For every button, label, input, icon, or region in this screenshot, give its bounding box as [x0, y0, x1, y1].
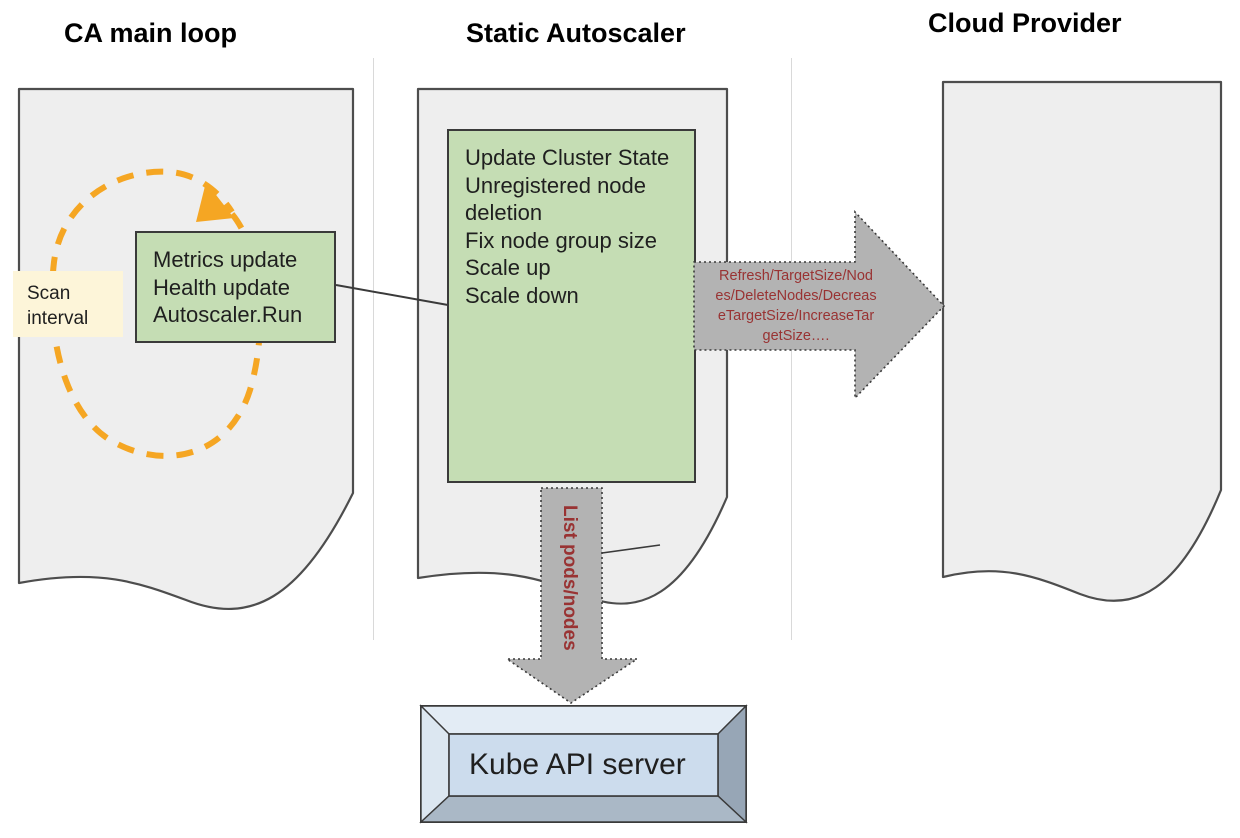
document-shape-ca-main-loop — [19, 89, 353, 609]
connector-mainloop-to-autoscaler — [336, 285, 448, 305]
lane-title-static-autoscaler: Static Autoscaler — [466, 18, 686, 49]
api-server-arrow-label: List pods/nodes — [558, 505, 580, 651]
lane-title-ca-main-loop: CA main loop — [64, 18, 237, 49]
main-loop-box-text: Metrics update Health update Autoscaler.… — [153, 246, 302, 329]
document-shape-cloud-provider — [943, 82, 1221, 601]
scan-interval-note-text: Scan interval — [27, 281, 88, 331]
lane-title-cloud-provider: Cloud Provider — [928, 8, 1122, 39]
connector-api-arrow-to-lane — [602, 545, 660, 553]
lane-divider-right — [791, 58, 792, 640]
autoscaler-steps-box[interactable]: Update Cluster State Unregistered node d… — [447, 129, 696, 483]
scan-loop-arrowhead — [196, 182, 234, 222]
cloud-provider-arrow-label: Refresh/TargetSize/Nod es/DeleteNodes/De… — [698, 266, 894, 346]
scan-interval-note: Scan interval — [13, 271, 123, 337]
lane-divider-left — [373, 58, 374, 640]
main-loop-box[interactable]: Metrics update Health update Autoscaler.… — [135, 231, 336, 343]
diagram-canvas: CA main loop Static Autoscaler Cloud Pro… — [0, 0, 1240, 838]
autoscaler-steps-box-text: Update Cluster State Unregistered node d… — [465, 144, 669, 309]
kube-api-server-label: Kube API server — [469, 748, 686, 782]
